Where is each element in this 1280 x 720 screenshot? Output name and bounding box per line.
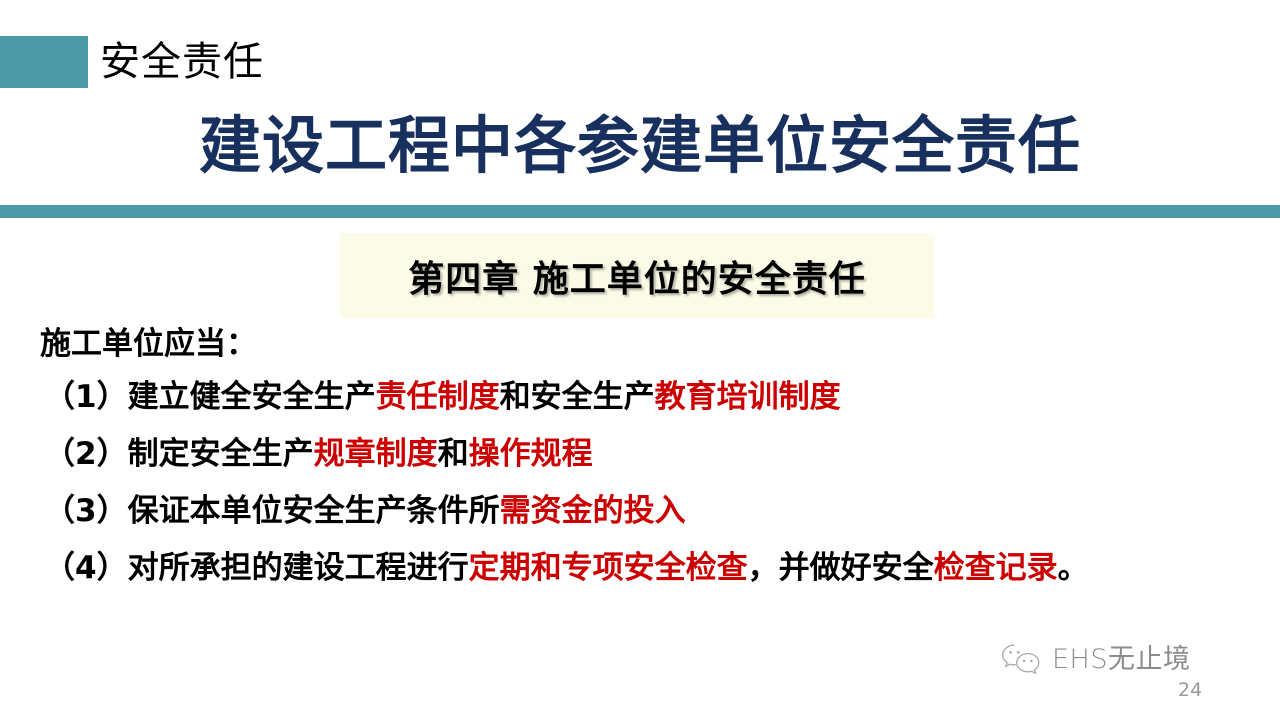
body-item-text: 保证本单位安全生产条件所 bbox=[128, 493, 500, 529]
body-lead-text: 施工单位应当： bbox=[40, 324, 257, 364]
header-accent-square bbox=[0, 36, 88, 88]
body-item: （2）制定安全生产规章制度和操作规程 bbox=[44, 434, 1244, 474]
body-item-text: ，并做好安全 bbox=[748, 550, 934, 586]
header-section-label: 安全责任 bbox=[100, 36, 264, 88]
body-item-text: 建立健全安全生产 bbox=[128, 379, 376, 415]
body-item: （1）建立健全安全生产责任制度和安全生产教育培训制度 bbox=[44, 377, 1244, 417]
body-item-highlight: 定期和专项安全检查 bbox=[469, 550, 748, 586]
divider bbox=[0, 205, 1280, 218]
body-item-text: 制定安全生产 bbox=[128, 436, 314, 472]
body-item-text: 。 bbox=[1058, 550, 1089, 586]
body-item: （4）对所承担的建设工程进行定期和专项安全检查，并做好安全检查记录。 bbox=[44, 548, 1244, 588]
body-item-number: （2） bbox=[44, 436, 128, 472]
body-item-text: 和 bbox=[438, 436, 469, 472]
wechat-icon bbox=[1000, 643, 1044, 677]
body-item-number: （4） bbox=[44, 550, 128, 586]
watermark: EHS无止境 bbox=[1000, 643, 1191, 677]
body-item-text: 对所承担的建设工程进行 bbox=[128, 550, 469, 586]
body-item-text: 和安全生产 bbox=[500, 379, 655, 415]
body-item-highlight: 责任制度 bbox=[376, 379, 500, 415]
slide-canvas: 安全责任 建设工程中各参建单位安全责任 第四章 施工单位的安全责任 施工单位应当… bbox=[0, 0, 1280, 720]
slide-page-number: 24 bbox=[1178, 679, 1202, 701]
body-item-highlight: 需资金的投入 bbox=[500, 493, 686, 529]
body-item: （3）保证本单位安全生产条件所需资金的投入 bbox=[44, 491, 1244, 531]
chapter-heading-text: 第四章 施工单位的安全责任 bbox=[340, 233, 934, 318]
body-item-highlight: 教育培训制度 bbox=[655, 379, 841, 415]
body-item-highlight: 检查记录 bbox=[934, 550, 1058, 586]
body-item-highlight: 规章制度 bbox=[314, 436, 438, 472]
body-item-number: （3） bbox=[44, 493, 128, 529]
watermark-text: EHS无止境 bbox=[1052, 645, 1191, 675]
body-item-number: （1） bbox=[44, 379, 128, 415]
body-item-highlight: 操作规程 bbox=[469, 436, 593, 472]
page-title: 建设工程中各参建单位安全责任 bbox=[0, 108, 1280, 184]
body-item-list: （1）建立健全安全生产责任制度和安全生产教育培训制度（2）制定安全生产规章制度和… bbox=[44, 377, 1244, 605]
